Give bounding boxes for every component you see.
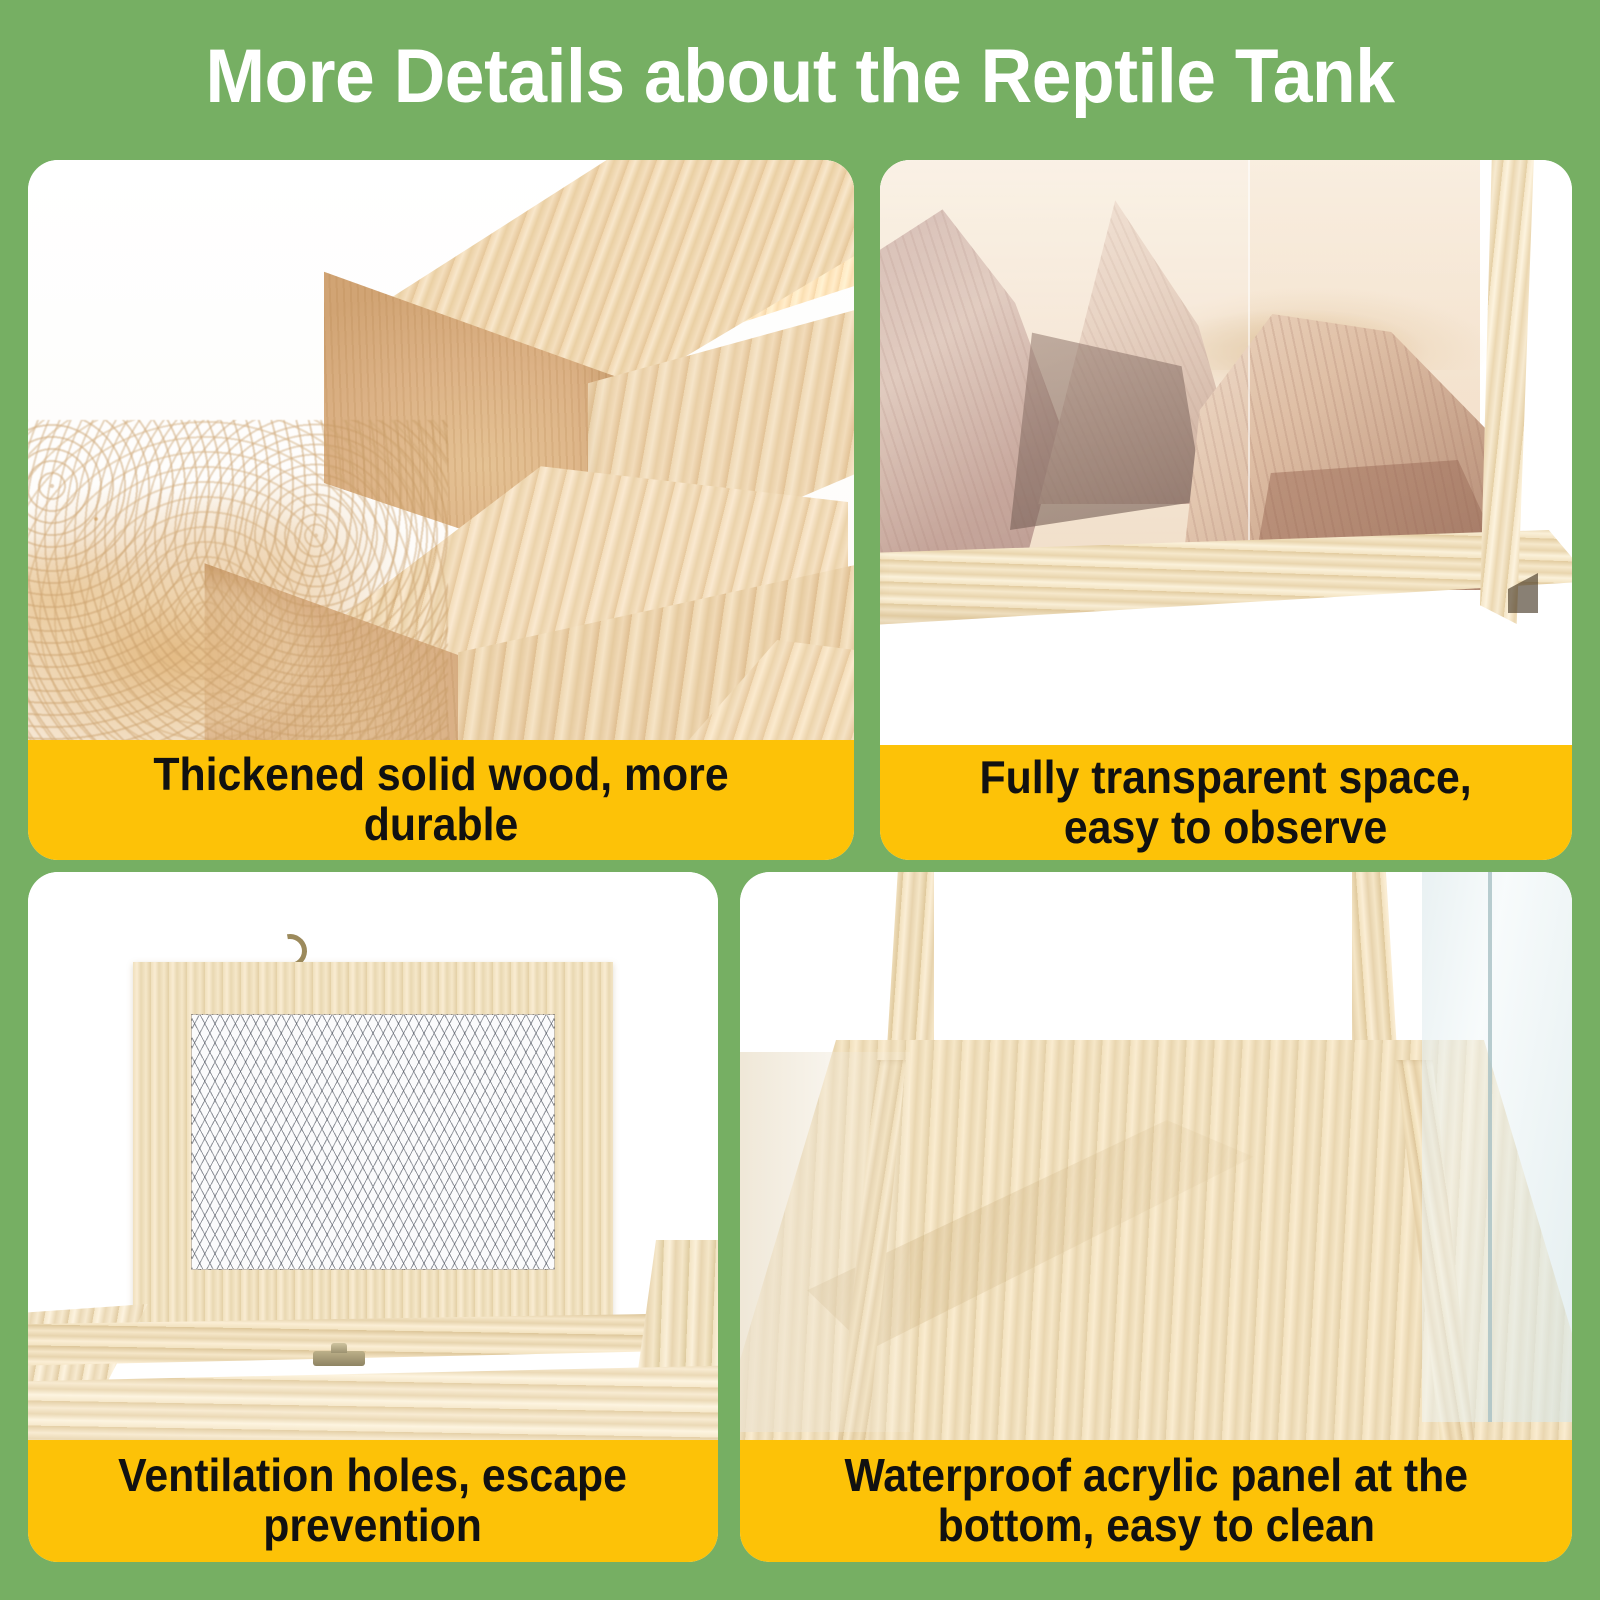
photo-solid-wood-blocks: [28, 160, 854, 740]
ventilation-mesh-screen: [191, 1014, 555, 1270]
metal-latch: [313, 1351, 365, 1366]
caption-waterproof-floor-text: Waterproof acrylic panel at the bottom, …: [844, 1451, 1468, 1550]
tank-side-rail-right: [638, 1240, 718, 1370]
glass-side-panel: [1422, 872, 1572, 1422]
caption-transparent-space: Fully transparent space, easy to observe: [880, 745, 1572, 860]
feature-card-transparent-space: Fully transparent space, easy to observe: [880, 160, 1572, 860]
photo-acrylic-floor-panel: [740, 872, 1572, 1440]
page-title: More Details about the Reptile Tank: [48, 34, 1552, 120]
caption-transparent-space-text: Fully transparent space, easy to observe: [980, 753, 1472, 852]
sawdust-pile: [28, 420, 448, 740]
glass-panel-edge: [1488, 872, 1492, 1422]
caption-ventilation-text: Ventilation holes, escape prevention: [119, 1451, 628, 1550]
caption-solid-wood: Thickened solid wood, more durable: [28, 740, 854, 860]
feature-card-ventilation: Ventilation holes, escape prevention: [28, 872, 718, 1562]
tank-front-rail: [28, 1358, 718, 1440]
mesh-lid-frame: [133, 962, 613, 1322]
photo-transparent-panel: [880, 160, 1572, 745]
glass-haze-left: [740, 1052, 910, 1432]
photo-ventilation-lid: [28, 872, 718, 1440]
feature-card-solid-wood: Thickened solid wood, more durable: [28, 160, 854, 860]
caption-waterproof-floor: Waterproof acrylic panel at the bottom, …: [740, 1440, 1572, 1562]
feature-card-waterproof-floor: Waterproof acrylic panel at the bottom, …: [740, 872, 1572, 1562]
caption-ventilation: Ventilation holes, escape prevention: [28, 1440, 718, 1562]
caption-solid-wood-text: Thickened solid wood, more durable: [74, 750, 809, 849]
